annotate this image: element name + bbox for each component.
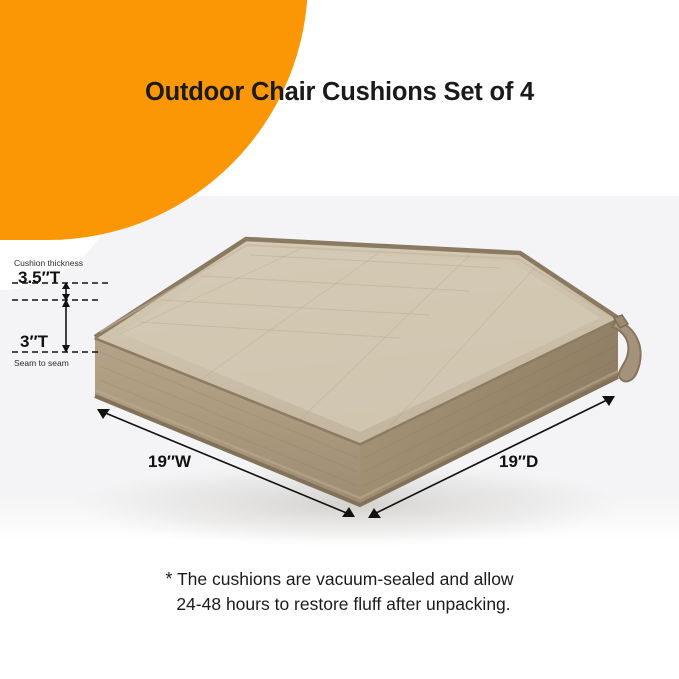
width-value-label: 19″W bbox=[148, 452, 191, 472]
footer-note-line-1: The cushions are vacuum-sealed and allow bbox=[177, 569, 514, 589]
thickness-value-label: 3.5″T bbox=[18, 268, 60, 288]
asterisk-icon: * bbox=[165, 569, 172, 589]
page-title: Outdoor Chair Cushions Set of 4 bbox=[0, 78, 679, 107]
product-infographic: Outdoor Chair Cushions Set of 4 bbox=[0, 0, 679, 679]
depth-value-label: 19″D bbox=[499, 452, 538, 472]
seam-value-label: 3″T bbox=[20, 332, 48, 352]
footer-note-line-2: 24-48 hours to restore fluff after unpac… bbox=[0, 592, 679, 617]
thickness-note-label: Cushion thickness bbox=[14, 258, 83, 268]
footer-note: * The cushions are vacuum-sealed and all… bbox=[0, 566, 679, 618]
seam-note-label: Seam to seam bbox=[14, 358, 69, 368]
